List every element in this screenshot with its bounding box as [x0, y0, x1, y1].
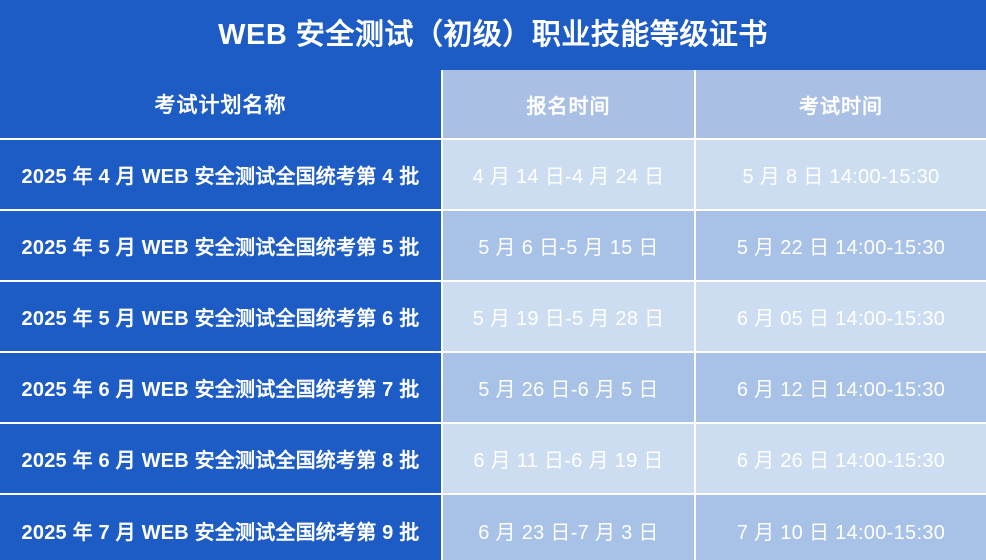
cell-registration-time: 6 月 23 日-7 月 3 日	[443, 495, 696, 560]
table-row: 2025 年 6 月 WEB 安全测试全国统考第 8 批 6 月 11 日-6 …	[0, 424, 986, 495]
cell-exam-time: 5 月 22 日 14:00-15:30	[696, 211, 986, 282]
cell-plan-name: 2025 年 5 月 WEB 安全测试全国统考第 5 批	[0, 211, 443, 282]
table-row: 2025 年 5 月 WEB 安全测试全国统考第 6 批 5 月 19 日-5 …	[0, 282, 986, 353]
cell-exam-time: 6 月 12 日 14:00-15:30	[696, 353, 986, 424]
cell-exam-time: 6 月 05 日 14:00-15:30	[696, 282, 986, 353]
cell-registration-time: 5 月 6 日-5 月 15 日	[443, 211, 696, 282]
exam-schedule-page: WEB 安全测试（初级）职业技能等级证书 考试计划名称 报名时间 考试时间 20…	[0, 0, 986, 560]
table-row: 2025 年 4 月 WEB 安全测试全国统考第 4 批 4 月 14 日-4 …	[0, 140, 986, 211]
cell-plan-name: 2025 年 6 月 WEB 安全测试全国统考第 8 批	[0, 424, 443, 495]
cell-plan-name: 2025 年 4 月 WEB 安全测试全国统考第 4 批	[0, 140, 443, 211]
cell-exam-time: 6 月 26 日 14:00-15:30	[696, 424, 986, 495]
cell-plan-name: 2025 年 6 月 WEB 安全测试全国统考第 7 批	[0, 353, 443, 424]
cell-registration-time: 5 月 26 日-6 月 5 日	[443, 353, 696, 424]
cell-exam-time: 7 月 10 日 14:00-15:30	[696, 495, 986, 560]
table-row: 2025 年 7 月 WEB 安全测试全国统考第 9 批 6 月 23 日-7 …	[0, 495, 986, 560]
cell-registration-time: 6 月 11 日-6 月 19 日	[443, 424, 696, 495]
page-title: WEB 安全测试（初级）职业技能等级证书	[218, 21, 768, 50]
table-header-row: 考试计划名称 报名时间 考试时间	[0, 70, 986, 140]
table-row: 2025 年 6 月 WEB 安全测试全国统考第 7 批 5 月 26 日-6 …	[0, 353, 986, 424]
table-header: 考试计划名称 报名时间 考试时间	[0, 70, 986, 140]
cell-registration-time: 5 月 19 日-5 月 28 日	[443, 282, 696, 353]
banner: WEB 安全测试（初级）职业技能等级证书	[0, 0, 986, 70]
cell-plan-name: 2025 年 5 月 WEB 安全测试全国统考第 6 批	[0, 282, 443, 353]
column-header-exam-time: 考试时间	[696, 70, 986, 140]
table-body: 2025 年 4 月 WEB 安全测试全国统考第 4 批 4 月 14 日-4 …	[0, 140, 986, 560]
cell-exam-time: 5 月 8 日 14:00-15:30	[696, 140, 986, 211]
column-header-plan-name: 考试计划名称	[0, 70, 443, 140]
cell-registration-time: 4 月 14 日-4 月 24 日	[443, 140, 696, 211]
cell-plan-name: 2025 年 7 月 WEB 安全测试全国统考第 9 批	[0, 495, 443, 560]
table-row: 2025 年 5 月 WEB 安全测试全国统考第 5 批 5 月 6 日-5 月…	[0, 211, 986, 282]
column-header-registration-time: 报名时间	[443, 70, 696, 140]
exam-schedule-table: 考试计划名称 报名时间 考试时间 2025 年 4 月 WEB 安全测试全国统考…	[0, 70, 986, 560]
